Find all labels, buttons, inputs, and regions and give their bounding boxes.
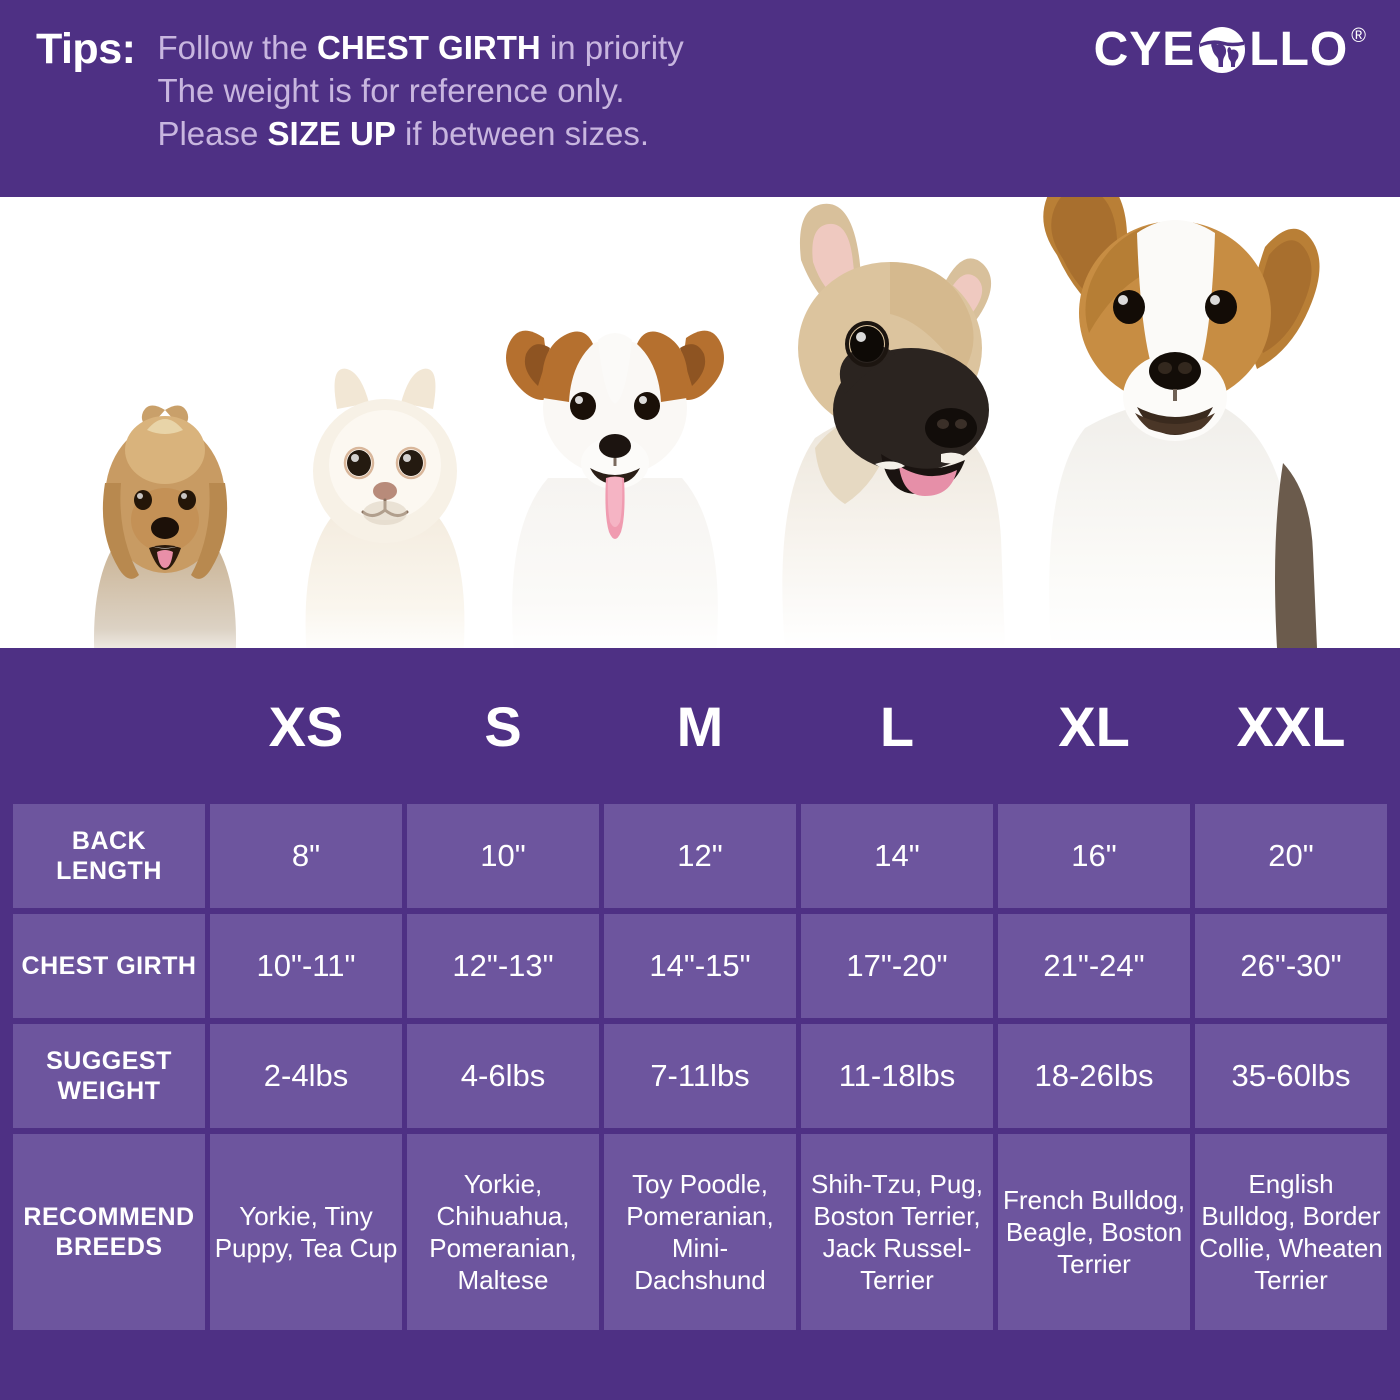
- size-header-m: M: [604, 654, 796, 798]
- cell-suggest-weight-m: 7-11lbs: [604, 1024, 796, 1128]
- tips-line-1-pre: Follow the: [157, 29, 317, 66]
- cell-suggest-weight-s: 4-6lbs: [407, 1024, 599, 1128]
- size-header-xxl: XXL: [1195, 654, 1387, 798]
- size-header-xl: XL: [998, 654, 1190, 798]
- tips-block: Tips: Follow the CHEST GIRTH in priority…: [36, 24, 684, 155]
- size-header-l: L: [801, 654, 993, 798]
- tips-line-3-post: if between sizes.: [396, 115, 649, 152]
- dog-photo-beagle: [1015, 197, 1325, 648]
- cell-breeds-l: Shih-Tzu, Pug, Boston Terrier, Jack Russ…: [801, 1134, 993, 1330]
- cell-suggest-weight-l: 11-18lbs: [801, 1024, 993, 1128]
- cell-breeds-xl: French Bulldog, Beagle, Boston Terrier: [998, 1134, 1190, 1330]
- table-row-suggest-weight: SUGGEST WEIGHT 2-4lbs 4-6lbs 7-11lbs 11-…: [13, 1024, 1387, 1128]
- cell-breeds-xs: Yorkie, Tiny Puppy, Tea Cup: [210, 1134, 402, 1330]
- tips-label: Tips:: [36, 24, 135, 74]
- size-header-s: S: [407, 654, 599, 798]
- table-header: XS S M L XL XXL: [13, 654, 1387, 798]
- cell-breeds-m: Toy Poodle, Pomeranian, Mini-Dachshund: [604, 1134, 796, 1330]
- table-row-chest-girth: CHEST GIRTH 10"-11" 12"-13" 14"-15" 17"-…: [13, 914, 1387, 1018]
- size-header-row: XS S M L XL XXL: [13, 654, 1387, 798]
- size-chart-table-wrapper: XS S M L XL XXL BACK LENGTH 8" 10" 12" 1…: [0, 648, 1400, 1400]
- cell-chest-girth-m: 14"-15": [604, 914, 796, 1018]
- cell-back-length-s: 10": [407, 804, 599, 908]
- cell-breeds-s: Yorkie, Chihuahua, Pomeranian, Maltese: [407, 1134, 599, 1330]
- cell-back-length-xxl: 20": [1195, 804, 1387, 908]
- table-row-recommend-breeds: RECOMMEND BREEDS Yorkie, Tiny Puppy, Tea…: [13, 1134, 1387, 1330]
- tips-line-1-post: in priority: [541, 29, 684, 66]
- size-header-xs: XS: [210, 654, 402, 798]
- cell-suggest-weight-xl: 18-26lbs: [998, 1024, 1190, 1128]
- cell-back-length-xs: 8": [210, 804, 402, 908]
- tips-line-1: Follow the CHEST GIRTH in priority: [157, 26, 683, 69]
- pet-circle-icon: [1197, 25, 1247, 75]
- brand-logo-text-left: CYE: [1094, 24, 1196, 76]
- table-row-back-length: BACK LENGTH 8" 10" 12" 14" 16" 20": [13, 804, 1387, 908]
- row-label-recommend-breeds: RECOMMEND BREEDS: [13, 1134, 205, 1330]
- cell-chest-girth-xl: 21"-24": [998, 914, 1190, 1018]
- dog-photo-jack-russell-terrier: [490, 278, 740, 648]
- brand-logo-text: CYELLO: [1094, 24, 1349, 76]
- size-chart-table: XS S M L XL XXL BACK LENGTH 8" 10" 12" 1…: [8, 648, 1392, 1336]
- dog-photo-yorkshire-terrier: [75, 388, 255, 648]
- row-label-back-length: BACK LENGTH: [13, 804, 205, 908]
- brand-logo-text-right: LLO: [1249, 24, 1348, 76]
- brand-logo: CYELLO ®: [1094, 24, 1366, 76]
- tips-text-lines: Follow the CHEST GIRTH in priority The w…: [157, 26, 683, 155]
- row-label-chest-girth: CHEST GIRTH: [13, 914, 205, 1018]
- cell-chest-girth-xxl: 26"-30": [1195, 914, 1387, 1018]
- dog-photo-strip: [0, 197, 1400, 648]
- tips-line-3: Please SIZE UP if between sizes.: [157, 112, 683, 155]
- size-chart-page: Tips: Follow the CHEST GIRTH in priority…: [0, 0, 1400, 1400]
- dog-photo-pomeranian: [285, 353, 485, 648]
- dog-photo-french-bulldog: [755, 198, 1025, 648]
- registered-trademark-icon: ®: [1351, 26, 1366, 46]
- table-corner-cell: [13, 654, 205, 798]
- row-label-suggest-weight: SUGGEST WEIGHT: [13, 1024, 205, 1128]
- tips-header: Tips: Follow the CHEST GIRTH in priority…: [0, 0, 1400, 197]
- tips-line-3-pre: Please: [157, 115, 267, 152]
- tips-line-1-bold: CHEST GIRTH: [317, 29, 541, 66]
- cell-chest-girth-l: 17"-20": [801, 914, 993, 1018]
- cell-chest-girth-xs: 10"-11": [210, 914, 402, 1018]
- cell-back-length-xl: 16": [998, 804, 1190, 908]
- tips-line-3-bold: SIZE UP: [268, 115, 396, 152]
- cell-suggest-weight-xs: 2-4lbs: [210, 1024, 402, 1128]
- cell-back-length-m: 12": [604, 804, 796, 908]
- cell-back-length-l: 14": [801, 804, 993, 908]
- tips-line-2: The weight is for reference only.: [157, 69, 683, 112]
- cell-chest-girth-s: 12"-13": [407, 914, 599, 1018]
- cell-suggest-weight-xxl: 35-60lbs: [1195, 1024, 1387, 1128]
- table-body: BACK LENGTH 8" 10" 12" 14" 16" 20" CHEST…: [13, 804, 1387, 1330]
- cell-breeds-xxl: English Bulldog, Border Collie, Wheaten …: [1195, 1134, 1387, 1330]
